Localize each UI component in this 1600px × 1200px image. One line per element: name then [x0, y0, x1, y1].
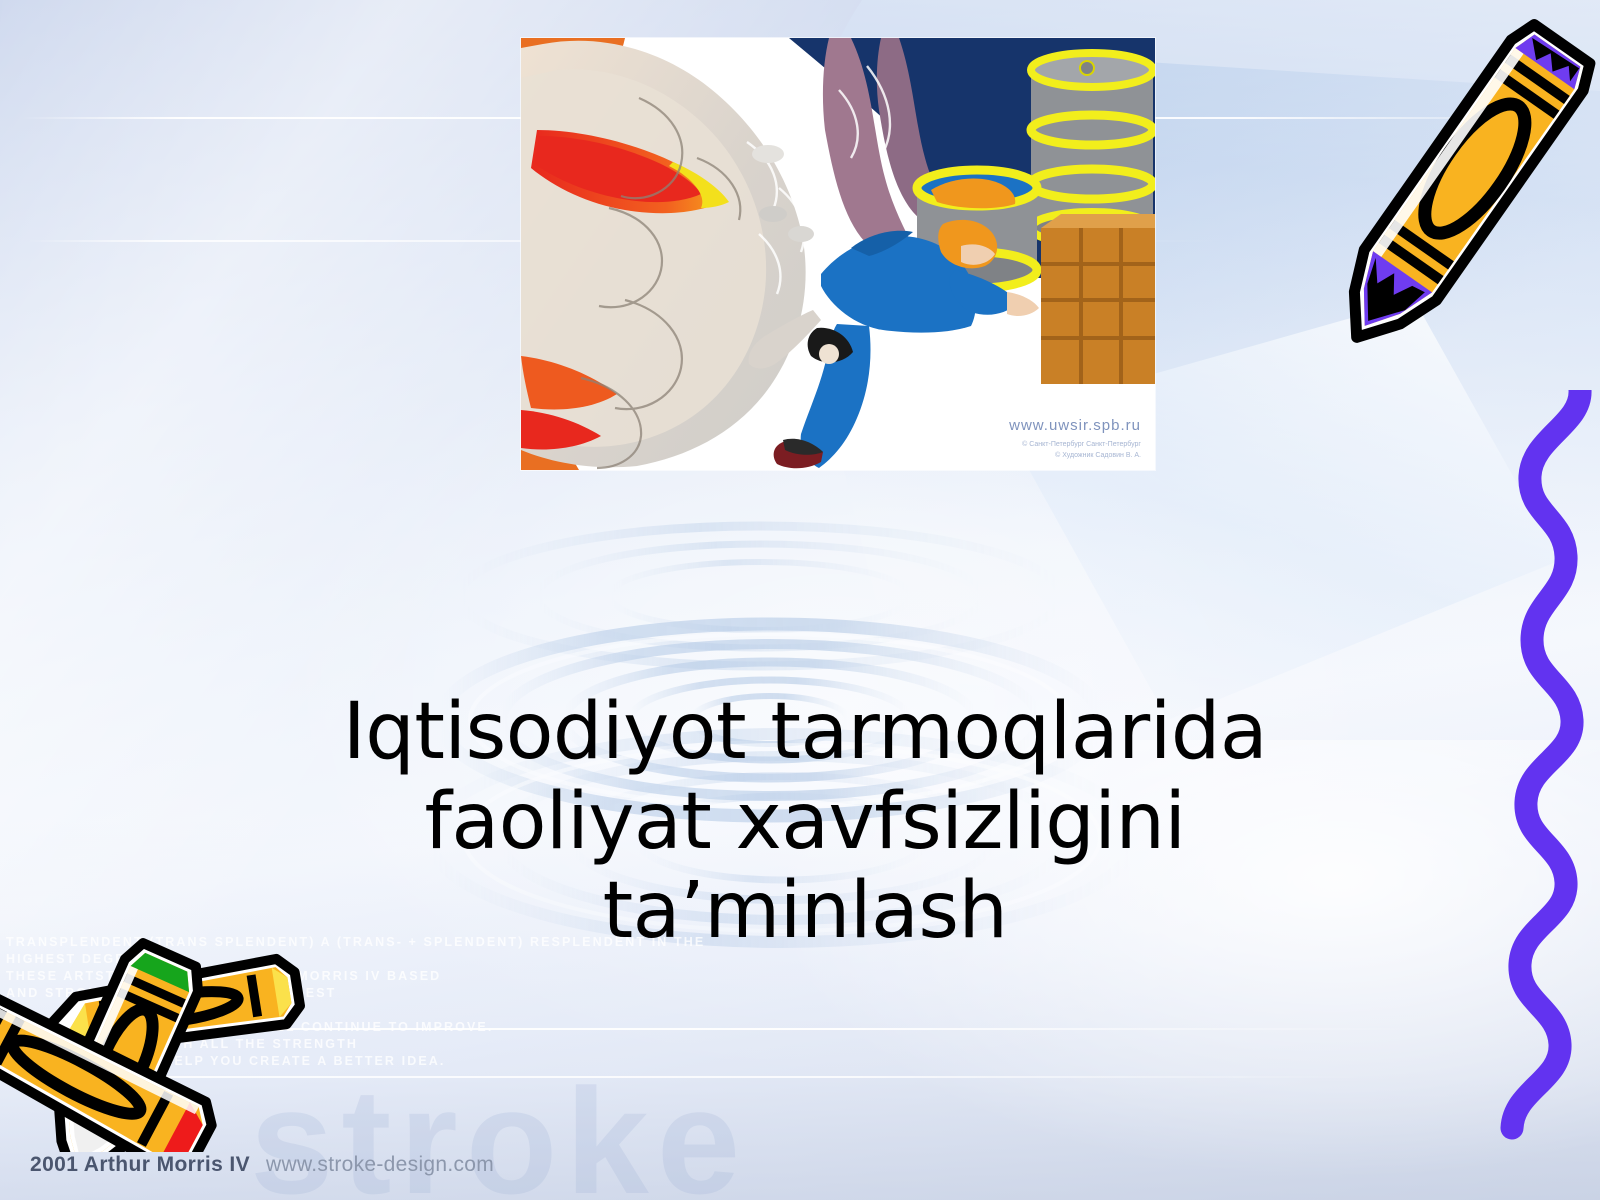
purple-squiggle-icon [1440, 390, 1600, 1170]
footer-url: www.stroke-design.com [266, 1153, 494, 1176]
svg-text:© Художник Садовин В. А.: © Художник Садовин В. А. [1055, 451, 1141, 459]
title-line-2: faoliyat xavfsizligini [160, 778, 1450, 868]
slide-canvas: TRANSPLENDENT (TRANS SPLENDENT) A (TRANS… [0, 0, 1600, 1200]
title-line-3: ta’minlash [160, 867, 1450, 957]
svg-text:www.uwsir.spb.ru: www.uwsir.spb.ru [1008, 417, 1141, 434]
slide-image[interactable]: www.uwsir.spb.ru © Санкт-Петербург Санкт… [521, 38, 1155, 470]
footer-copyright: 2001 Arthur Morris IV [30, 1153, 250, 1176]
svg-text:© Санкт-Петербург Санкт-Петер: © Санкт-Петербург Санкт-Петербург [1022, 440, 1141, 448]
title-line-1: Iqtisodiyot tarmoqlarida [160, 688, 1450, 778]
footer-credit: 2001 Arthur Morris IVwww.stroke-design.c… [30, 1153, 494, 1177]
slide-title: Iqtisodiyot tarmoqlarida faoliyat xavfsi… [160, 688, 1450, 957]
crayon-top-right-icon [1296, 0, 1600, 392]
crayon-trio-bottom-left-icon [0, 922, 334, 1152]
